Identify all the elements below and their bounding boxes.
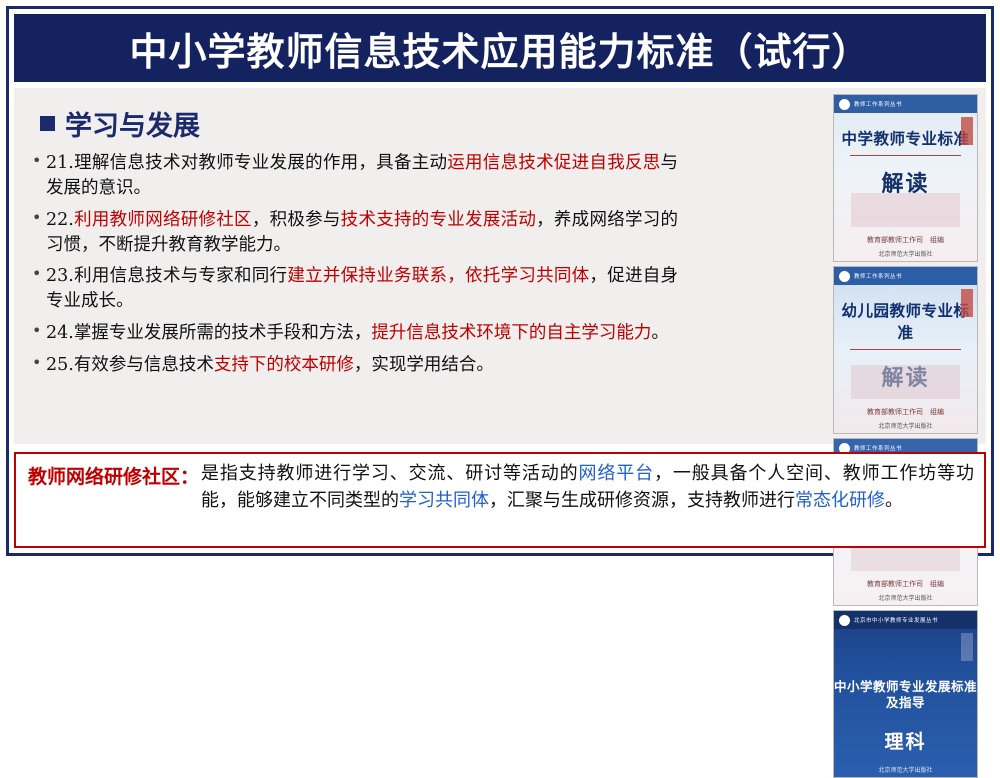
book-series-bar: 北京市中小学教师专业发展丛书 [834,611,977,629]
book-sub-title: 理科 [834,727,977,754]
cover-decoration [961,117,973,145]
book-editor: 教育部教师工作司 组编 [834,407,977,417]
book-main-title: 中小学教师专业发展标准及指导 [834,679,977,712]
list-item-run: 运用信息技术促进自我反思 [447,153,660,173]
book-main-title: 中学教师专业标准 [834,127,977,149]
cover-rule [850,718,962,719]
definition-run: 常态化研修 [795,490,885,511]
book-press: 北京师范大学出版社 [834,421,977,430]
list-item: 24.掌握专业发展所需的技术手段和方法，提升信息技术环境下的自主学习能力。 [32,321,678,346]
cover-decoration [961,289,973,317]
definition-term: 教师网络研修社区： [28,460,199,540]
cover-decoration [961,633,973,661]
book-series-bar: 教师工作系列丛书 [834,267,977,285]
list-item-run: ，实现学用结合。 [354,355,494,375]
list-item-run: 22. [46,210,74,230]
publisher-logo-icon [839,615,850,626]
list-item-run: 支持下的校本研修 [214,355,354,375]
list-item-run: 建立并保持业务联系，依托学习共同体 [287,266,589,286]
list-item-run: 利用教师网络研修社区 [74,210,252,230]
book-press: 北京师范大学出版社 [834,765,977,774]
list-item-run: 23.利用信息技术与专家和同行 [46,266,287,286]
book-cover-kindergarten: 教师工作系列丛书 幼儿园教师专业标准 解读 教育部教师工作司 组编 北京师范大学… [833,266,978,434]
text-column: 学习与发展 21.理解信息技术对教师专业发展的作用，具备主动运用信息技术促进自我… [14,88,686,444]
slide-title-bar: 中小学教师信息技术应用能力标准（试行） [14,14,986,82]
list-item: 25.有效参与信息技术支持下的校本研修，实现学用结合。 [32,353,678,378]
book-editor: 教育部教师工作司 组编 [834,235,977,245]
standards-list: 21.理解信息技术对教师专业发展的作用，具备主动运用信息技术促进自我反思与发展的… [32,151,678,378]
book-press: 北京师范大学出版社 [834,249,977,258]
slide-root: 中小学教师信息技术应用能力标准（试行） 学习与发展 21.理解信息技术对教师专业… [0,0,1000,562]
definition-callout: 教师网络研修社区： 是指支持教师进行学习、交流、研讨等活动的网络平台，一般具备个… [14,452,986,548]
book-series-label: 北京市中小学教师专业发展丛书 [854,616,938,624]
definition-run: 网络平台 [579,463,655,484]
definition-body: 是指支持教师进行学习、交流、研讨等活动的网络平台，一般具备个人空间、教师工作坊等… [199,460,974,540]
book-cover-development-guide: 北京市中小学教师专业发展丛书 中小学教师专业发展标准及指导 理科 北京师范大学出… [833,610,978,778]
list-item-run: 21.理解信息技术对教师专业发展的作用，具备主动 [46,153,447,173]
definition-run: 是指支持教师进行学习、交流、研讨等活动的 [201,463,579,484]
book-series-label: 教师工作系列丛书 [854,272,902,280]
list-item-run: 25.有效参与信息技术 [46,355,214,375]
book-editor: 教育部教师工作司 组编 [834,579,977,589]
cover-image-block [851,193,960,227]
book-series-bar: 教师工作系列丛书 [834,95,977,113]
list-item: 22.利用教师网络研修社区，积极参与技术支持的专业发展活动，养成网络学习的习惯，… [32,208,678,258]
definition-run: 学习共同体 [399,490,489,511]
cover-image-block [851,365,960,399]
section-heading-label: 学习与发展 [65,104,200,143]
definition-run: 。 [885,490,903,511]
list-item-run: 提升信息技术环境下的自主学习能力 [371,323,651,343]
cover-rule [850,155,962,156]
book-series-label: 教师工作系列丛书 [854,100,902,108]
book-cover-gallery: 教师工作系列丛书 中学教师专业标准 解读 教育部教师工作司 组编 北京师范大学出… [686,88,986,444]
list-item: 21.理解信息技术对教师专业发展的作用，具备主动运用信息技术促进自我反思与发展的… [32,151,678,201]
publisher-logo-icon [839,271,850,282]
list-item-run: 。 [651,323,669,343]
page-title: 中小学教师信息技术应用能力标准（试行） [129,21,870,76]
slide-content: 学习与发展 21.理解信息技术对教师专业发展的作用，具备主动运用信息技术促进自我… [14,88,986,444]
section-heading: 学习与发展 [40,104,678,143]
square-bullet-icon [40,116,55,131]
book-cover-middle-school: 教师工作系列丛书 中学教师专业标准 解读 教育部教师工作司 组编 北京师范大学出… [833,94,978,262]
list-item-run: ，积极参与 [252,210,341,230]
list-item-run: 技术支持的专业发展活动 [341,210,536,230]
book-main-title: 幼儿园教师专业标准 [834,299,977,343]
publisher-logo-icon [839,99,850,110]
book-series-label: 教师工作系列丛书 [854,444,902,452]
definition-run: ，汇聚与生成研修资源，支持教师进行 [489,490,795,511]
cover-rule [850,349,962,350]
list-item-run: 24.掌握专业发展所需的技术手段和方法， [46,323,371,343]
book-press: 北京师范大学出版社 [834,593,977,602]
list-item: 23.利用信息技术与专家和同行建立并保持业务联系，依托学习共同体，促进自身专业成… [32,264,678,314]
